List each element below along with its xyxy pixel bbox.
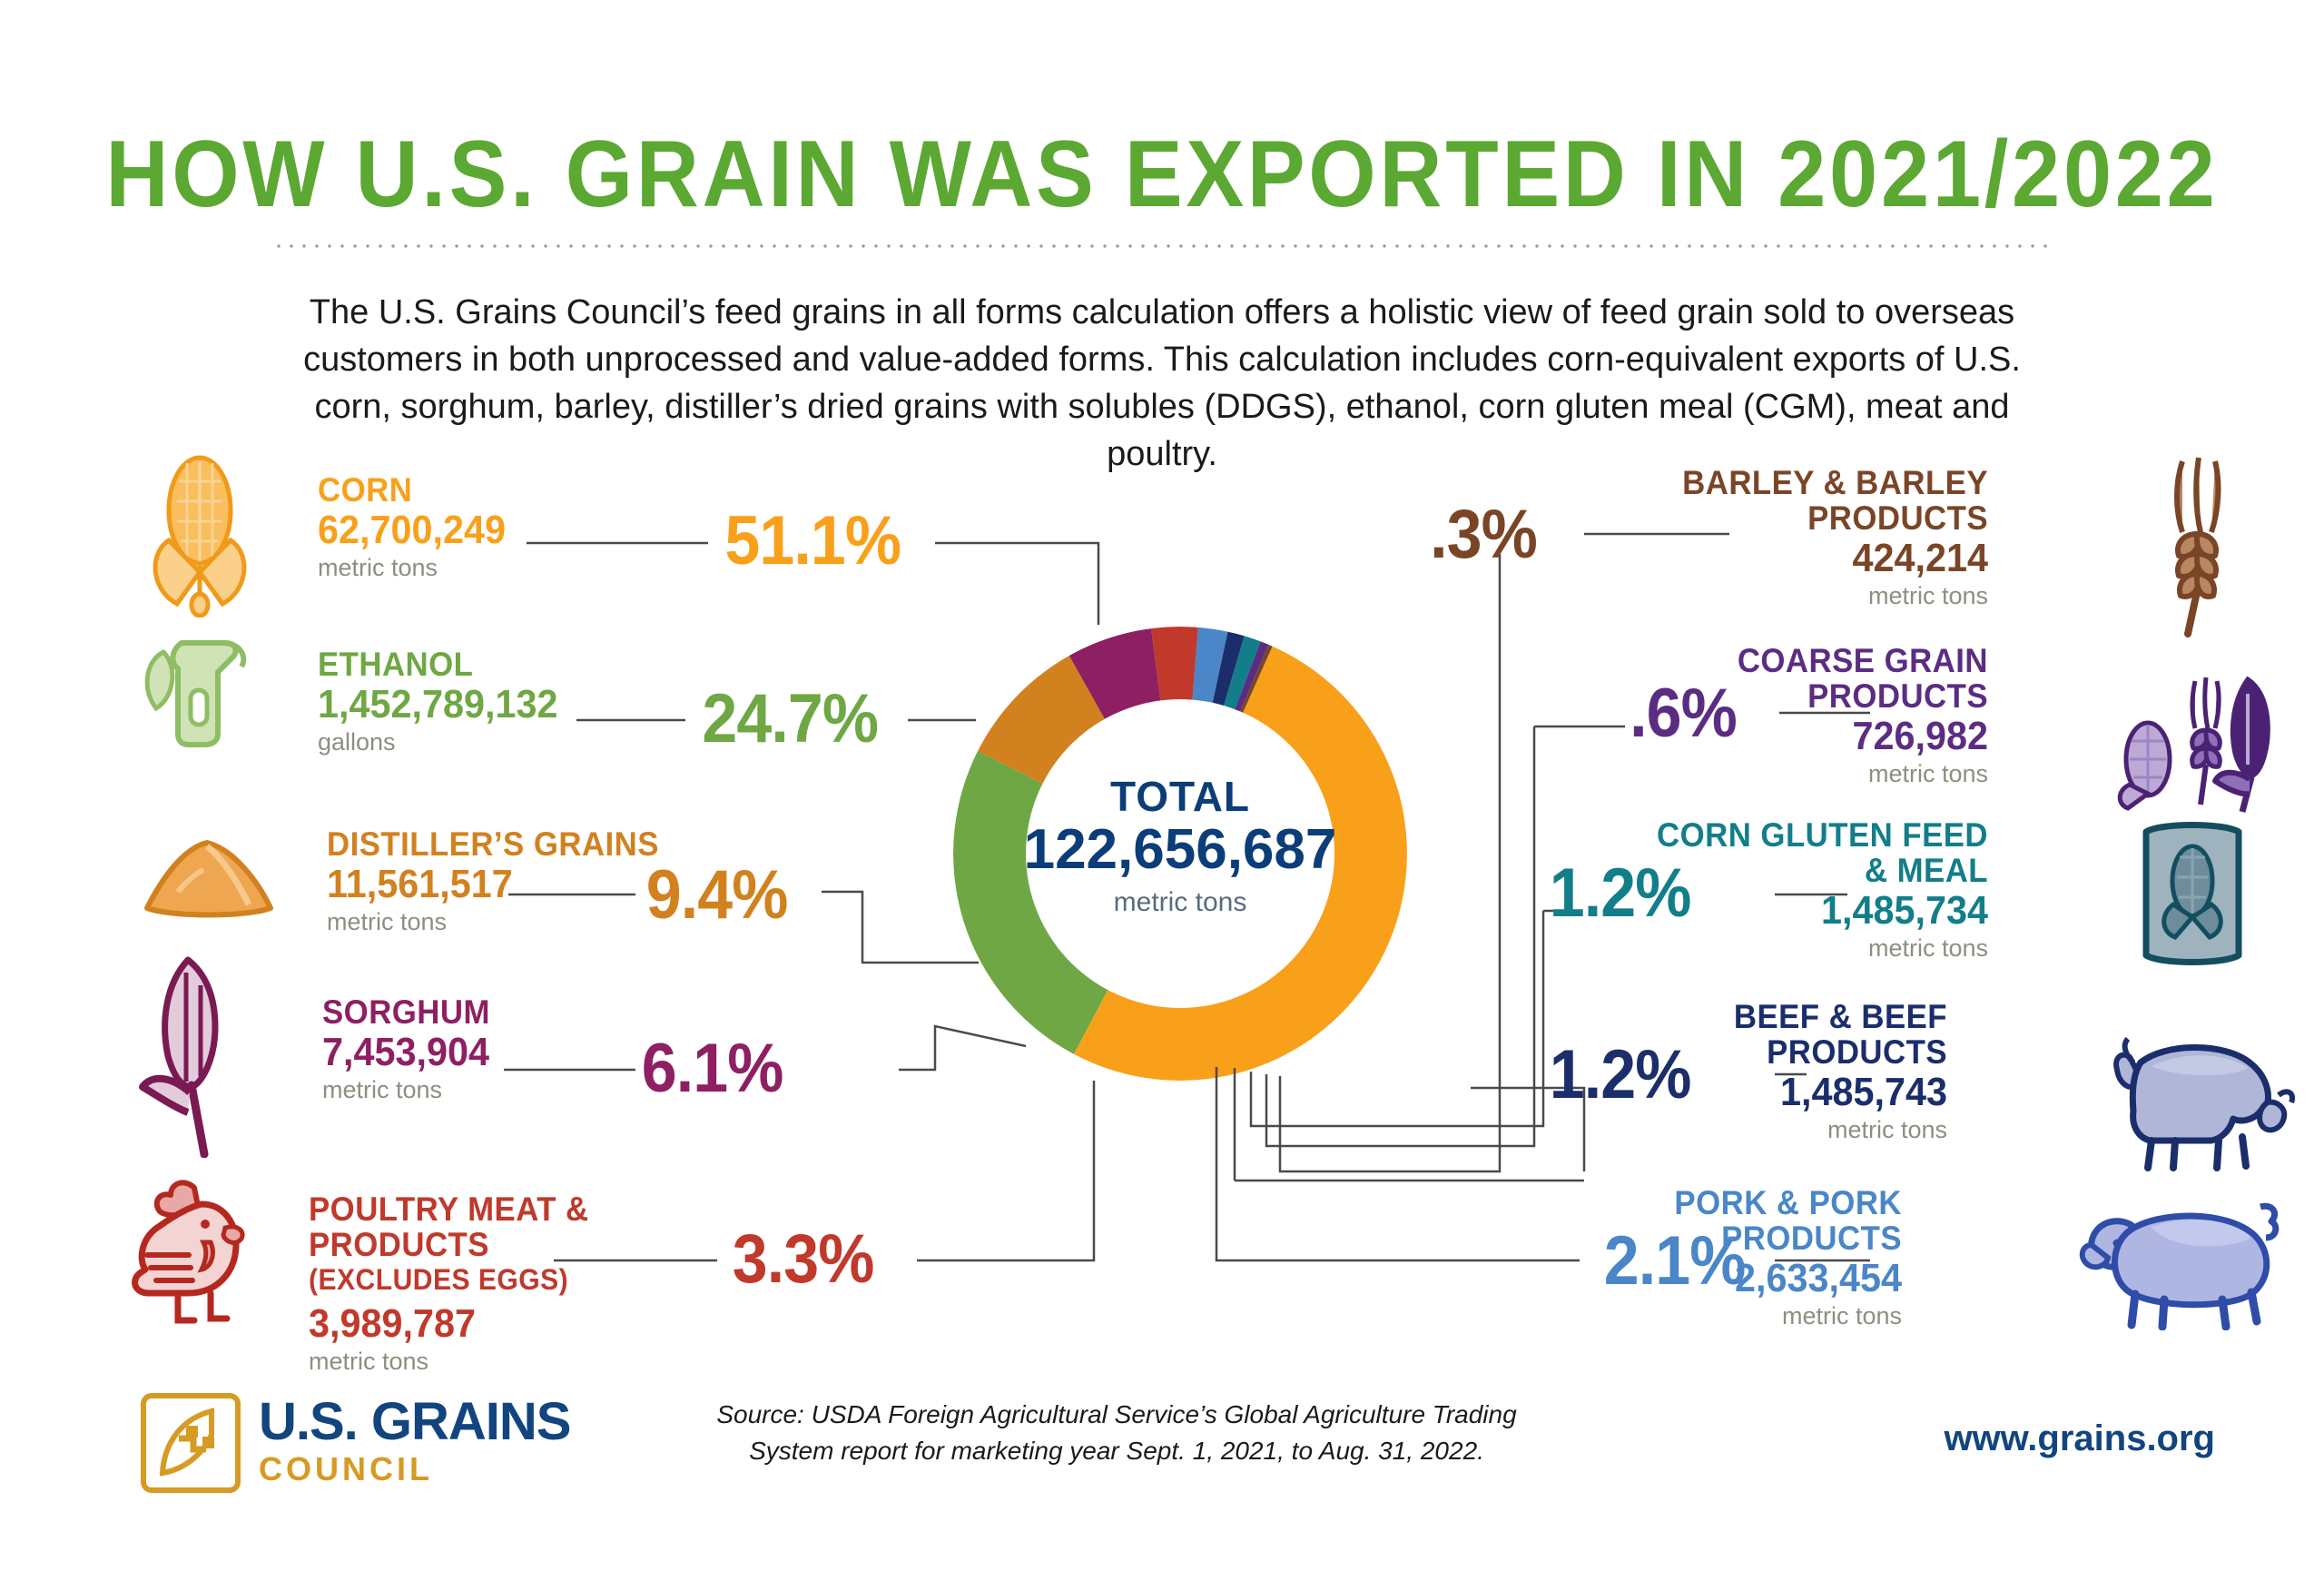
barley-stalk-icon [2142, 456, 2251, 642]
logo-line-1: U.S. GRAINS [259, 1391, 571, 1452]
donut-chart: TOTAL 122,656,687 metric tons [953, 627, 1407, 1081]
pct-ethanol: 24.7% [702, 679, 878, 758]
value-poultry: 3,989,787 [309, 1301, 753, 1347]
pct-pork: 2.1% [1604, 1221, 1746, 1300]
unit-corn: metric tons [318, 553, 681, 582]
pct-sorghum: 6.1% [642, 1029, 783, 1108]
label-beef-line1: BEEF & BEEF [1589, 999, 1947, 1034]
dotted-divider [272, 243, 2052, 249]
cow-icon [2097, 1026, 2297, 1176]
entry-pork: PORK & PORK PRODUCTS 2,633,454 metric to… [1716, 1185, 2242, 1330]
total-value: 122,656,687 [953, 817, 1407, 882]
label-sorghum: SORGHUM [322, 994, 689, 1030]
donut-center-text: TOTAL 122,656,687 metric tons [953, 772, 1407, 918]
pct-distillers: 9.4% [646, 855, 788, 934]
usgc-logo-text: U.S. GRAINS COUNCIL [259, 1391, 571, 1488]
pct-beef: 1.2% [1550, 1035, 1691, 1114]
entry-barley: BARLEY & BARLEY PRODUCTS 424,214 metric … [1716, 465, 2242, 610]
label-poultry-line3: (EXCLUDES EGGS) [309, 1262, 753, 1298]
sorghum-plant-icon [132, 949, 250, 1162]
pct-poultry: 3.3% [733, 1220, 874, 1299]
fuel-nozzle-leaf-icon [127, 627, 259, 763]
label-ethanol: ETHANOL [318, 647, 684, 682]
mixed-grains-icon [2115, 652, 2279, 820]
label-barley-line1: BARLEY & BARLEY [1621, 465, 1988, 500]
usgc-logo-mark [141, 1393, 241, 1493]
unit-coarse-grain: metric tons [1598, 759, 1988, 788]
label-poultry-line1: POULTRY MEAT & [309, 1191, 753, 1227]
total-unit: metric tons [953, 887, 1407, 918]
pct-coarse-grain: .6% [1630, 674, 1737, 753]
value-barley: 424,214 [1621, 536, 1988, 581]
label-poultry-line2: PRODUCTS [309, 1227, 753, 1262]
corn-cob-icon [141, 454, 259, 622]
value-sorghum: 7,453,904 [322, 1030, 689, 1075]
pct-corn: 51.1% [724, 501, 901, 580]
label-barley-line2: PRODUCTS [1621, 500, 1988, 536]
unit-beef: metric tons [1566, 1115, 1947, 1144]
grain-pile-icon [136, 826, 281, 931]
total-label: TOTAL [953, 772, 1407, 821]
logo-line-2: COUNCIL [259, 1450, 571, 1488]
label-pork-line1: PORK & PORK [1561, 1185, 1902, 1220]
entry-corn-gluten: CORN GLUTEN FEED & MEAL 1,485,734 metric… [1716, 817, 2242, 963]
usgc-logo: U.S. GRAINS COUNCIL [141, 1389, 613, 1507]
feed-sack-icon [2133, 817, 2251, 976]
source-note: Source: USDA Foreign Agricultural Servic… [690, 1397, 1543, 1469]
unit-pork: metric tons [1539, 1301, 1902, 1330]
label-corn: CORN [318, 472, 659, 508]
pct-corn-gluten: 1.2% [1550, 854, 1691, 933]
page-title: HOW U.S. GRAIN WAS EXPORTED IN 2021/2022 [93, 127, 2230, 222]
entry-beef: BEEF & BEEF PRODUCTS 1,485,743 metric to… [1716, 999, 2242, 1144]
value-ethanol: 1,452,789,132 [318, 682, 684, 727]
unit-poultry: metric tons [309, 1347, 781, 1376]
unit-ethanol: gallons [318, 727, 708, 756]
unit-corn-gluten: metric tons [1589, 934, 1988, 963]
website-url[interactable]: www.grains.org [1944, 1418, 2215, 1459]
value-corn: 62,700,249 [318, 508, 659, 553]
label-corn-gluten-line1: CORN GLUTEN FEED [1612, 817, 1988, 853]
pig-icon [2079, 1194, 2288, 1335]
pct-barley: .3% [1430, 495, 1537, 574]
subtitle-paragraph: The U.S. Grains Council’s feed grains in… [300, 289, 2024, 478]
unit-barley: metric tons [1598, 581, 1988, 610]
chicken-icon [127, 1171, 277, 1349]
entry-coarse-grain: COARSE GRAIN PRODUCTS 726,982 metric ton… [1716, 643, 2242, 788]
